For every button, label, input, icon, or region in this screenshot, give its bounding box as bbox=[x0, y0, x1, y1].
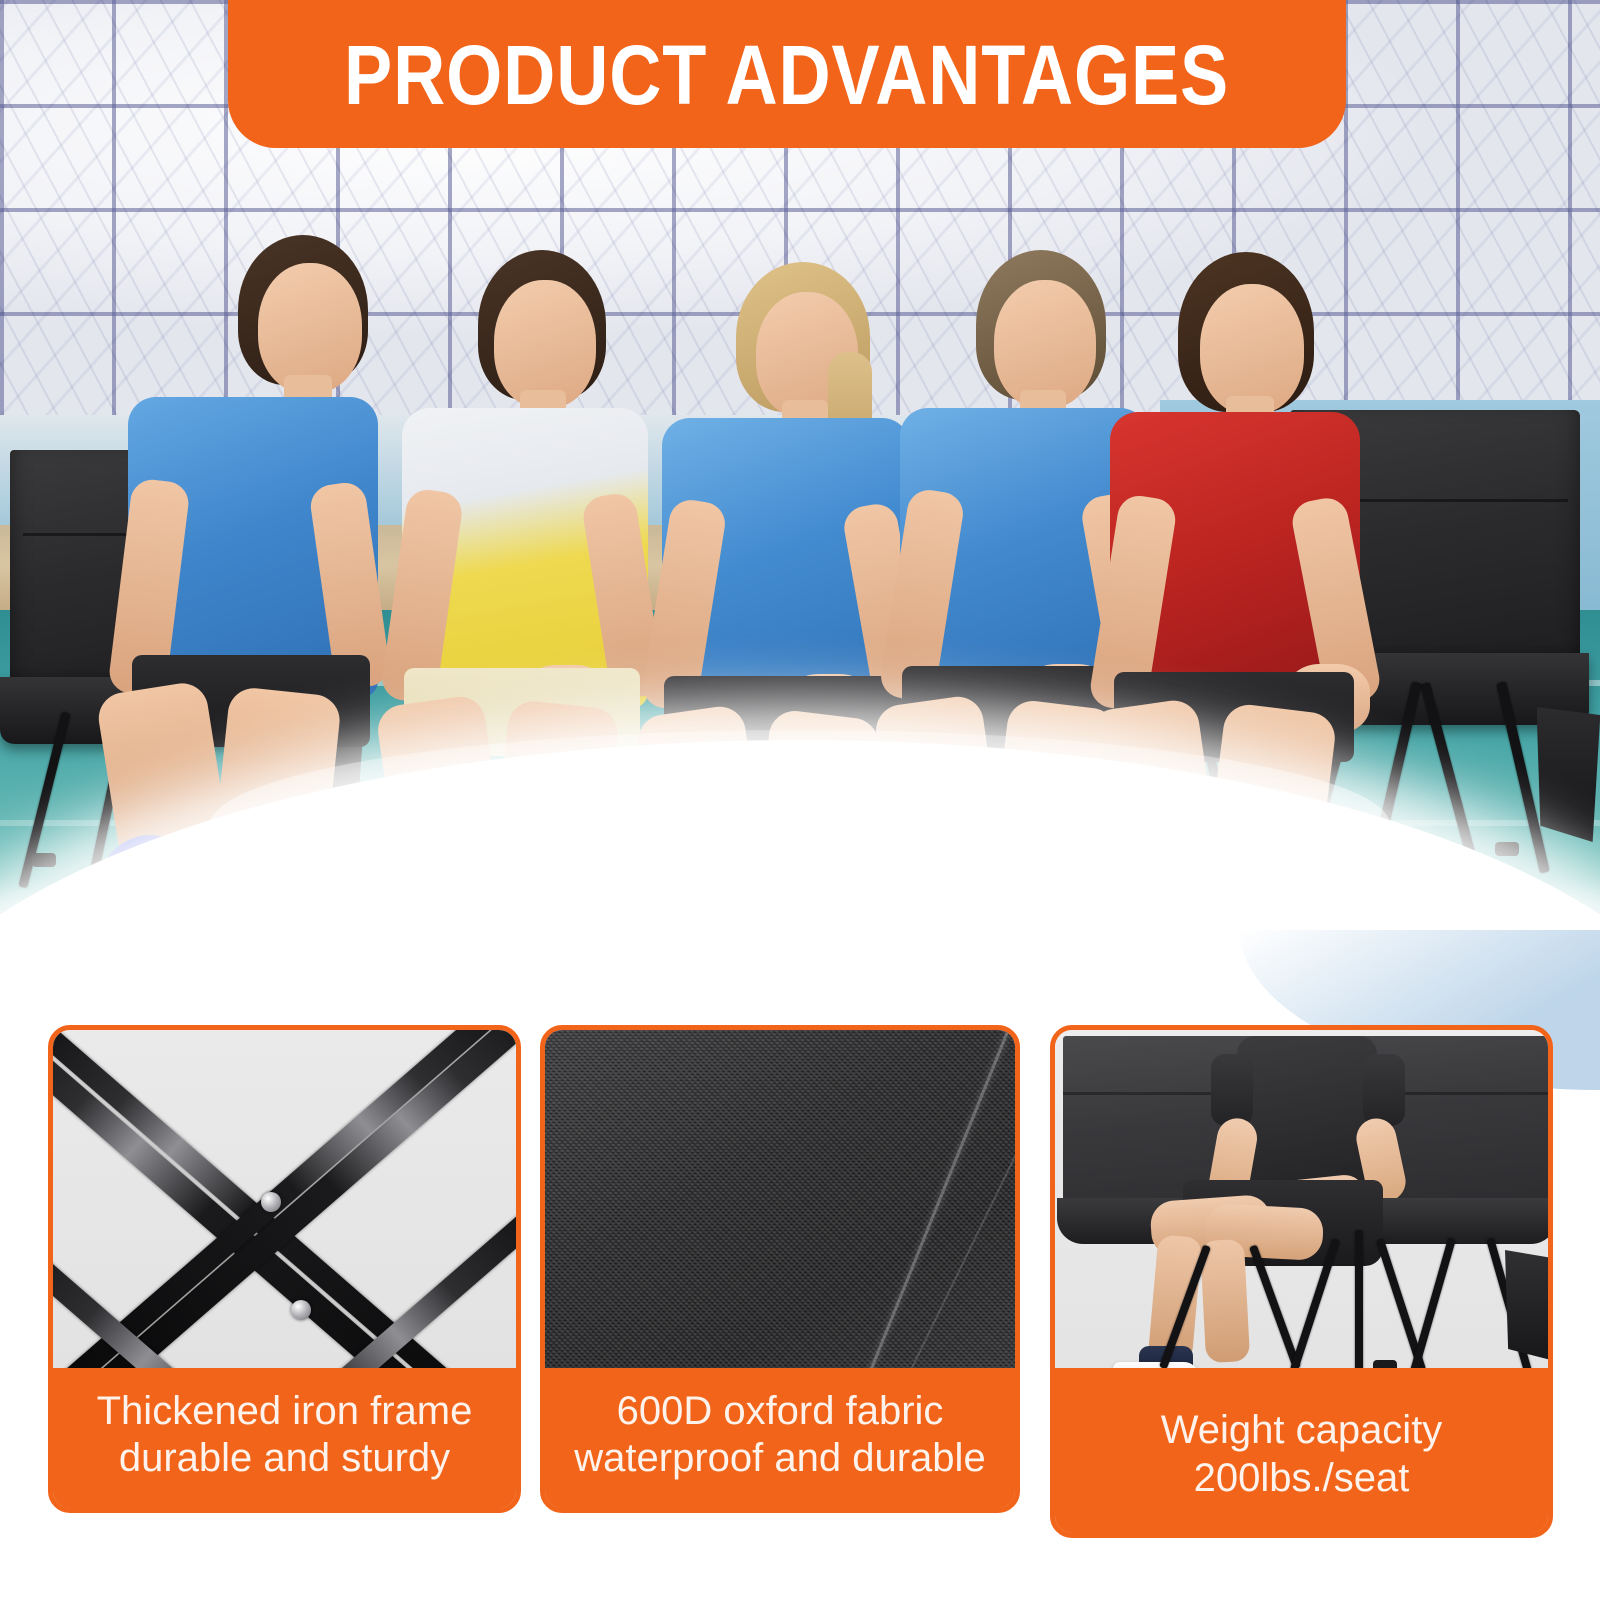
man-shin-right bbox=[1200, 1239, 1250, 1363]
caption-line-1: 600D oxford fabric bbox=[617, 1388, 944, 1435]
product-advantages-infographic: PRODUCT ADVANTAGES Thickened iron frame … bbox=[0, 0, 1600, 1600]
weight-capacity-caption: Weight capacity 200lbs./seat bbox=[1055, 1368, 1548, 1533]
iron-frame-caption: Thickened iron frame durable and sturdy bbox=[53, 1368, 516, 1508]
oxford-fabric-closeup-image bbox=[545, 1030, 1015, 1378]
weight-capacity-demo-image bbox=[1055, 1030, 1548, 1378]
iron-frame-closeup-image bbox=[53, 1030, 516, 1378]
caption-line-2: durable and sturdy bbox=[119, 1435, 450, 1482]
feature-panel-oxford-fabric[interactable]: 600D oxford fabric waterproof and durabl… bbox=[540, 1025, 1020, 1513]
page-title: PRODUCT ADVANTAGES bbox=[344, 25, 1229, 117]
oxford-fabric-caption: 600D oxford fabric waterproof and durabl… bbox=[545, 1368, 1015, 1508]
hero-photo bbox=[0, 0, 1600, 1000]
fabric-seam-line-secondary bbox=[891, 1031, 1015, 1378]
feature-panel-iron-frame[interactable]: Thickened iron frame durable and sturdy bbox=[48, 1025, 521, 1513]
caption-line-2: waterproof and durable bbox=[574, 1435, 985, 1482]
caption-line-1: Thickened iron frame bbox=[97, 1388, 473, 1435]
man-sleeve-right bbox=[1363, 1054, 1405, 1126]
man-tshirt bbox=[1237, 1036, 1377, 1188]
product-advantages-banner: PRODUCT ADVANTAGES bbox=[228, 0, 1346, 148]
bench-side-pocket bbox=[1505, 1250, 1548, 1360]
caption-line-2: 200lbs./seat bbox=[1194, 1455, 1410, 1502]
caption-line-1: Weight capacity bbox=[1161, 1407, 1443, 1454]
feature-panel-weight-capacity[interactable]: Weight capacity 200lbs./seat bbox=[1050, 1025, 1553, 1538]
man-sleeve-left bbox=[1211, 1054, 1253, 1126]
